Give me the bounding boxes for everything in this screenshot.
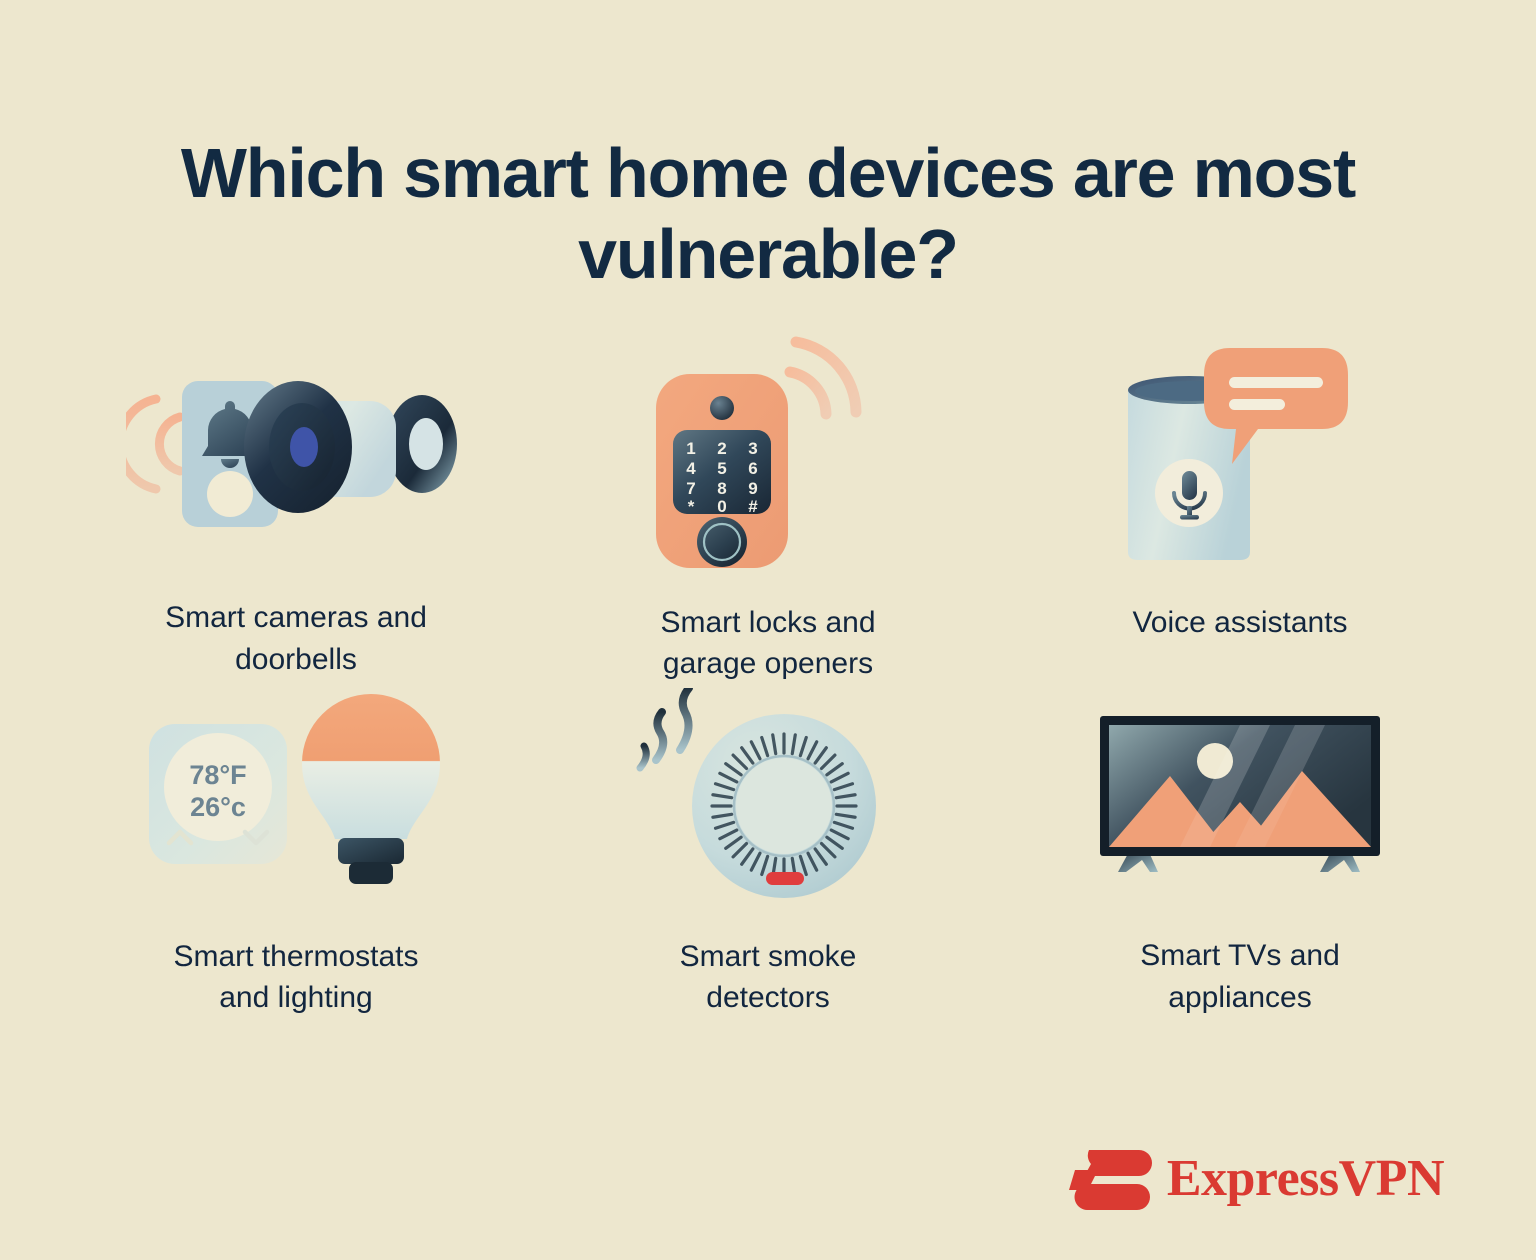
keypad-key[interactable]: 2 <box>717 439 726 458</box>
smart-thermostat-bulb-icon: 78°F 26°c <box>131 688 461 908</box>
status-led-indicator <box>766 872 804 885</box>
smart-smoke-detector-icon <box>618 688 918 908</box>
keypad-key[interactable]: 5 <box>717 459 726 478</box>
page-title: Which smart home devices are most vulner… <box>168 133 1368 295</box>
device-grid: Smart cameras and doorbells <box>60 330 1476 1018</box>
smoke-wisp-icon <box>640 688 689 768</box>
camera-lens-iris <box>290 427 318 467</box>
smart-smoke-detector-illustration <box>532 688 1004 908</box>
device-label: Smart cameras and doorbells <box>165 597 427 680</box>
doorbell-button[interactable] <box>207 471 253 517</box>
keypad-key[interactable]: * <box>688 497 695 516</box>
keypad-key[interactable]: 8 <box>717 479 726 498</box>
keypad-key[interactable]: 7 <box>686 479 695 498</box>
keypad-key[interactable]: # <box>748 497 758 516</box>
smart-thermostat-bulb-illustration: 78°F 26°c <box>60 688 532 908</box>
expressvpn-wordmark: ExpressVPN <box>1167 1153 1444 1205</box>
thermostat-celsius: 26°c <box>190 792 246 822</box>
device-label: Smart thermostats and lighting <box>173 936 418 1019</box>
device-card-cameras-doorbells: Smart cameras and doorbells <box>60 330 532 680</box>
bulb-collar <box>338 838 404 864</box>
device-label: Smart TVs and appliances <box>1140 935 1340 1018</box>
bulb-glass <box>302 694 440 839</box>
sound-wave-icon <box>126 399 180 489</box>
bulb-base <box>349 862 393 884</box>
expressvpn-e-mark-icon <box>1067 1148 1153 1210</box>
infographic-page: Which smart home devices are most vulner… <box>0 0 1536 1260</box>
tv-screen[interactable] <box>1109 725 1371 847</box>
device-card-voice-assistants: Voice assistants <box>1004 330 1476 680</box>
keypad-key[interactable]: 9 <box>748 479 757 498</box>
voice-assistant-speaker-icon <box>1090 330 1390 580</box>
smart-tv-icon <box>1090 698 1390 898</box>
smart-lock-illustration: 1 2 3 4 5 6 7 8 9 * 0 # <box>532 330 1004 580</box>
device-card-locks-garage: 1 2 3 4 5 6 7 8 9 * 0 # <box>532 330 1004 680</box>
voice-assistant-illustration <box>1004 330 1476 580</box>
keypad-key[interactable]: 1 <box>686 439 695 458</box>
smart-camera-doorbell-illustration <box>60 330 532 575</box>
thermostat-fahrenheit: 78°F <box>189 760 246 790</box>
lock-sensor-dot <box>710 396 734 420</box>
device-card-thermostats-lighting: 78°F 26°c Smart thermostats and lighting <box>60 688 532 1018</box>
device-label: Smart smoke detectors <box>680 936 857 1019</box>
device-label: Voice assistants <box>1132 602 1347 643</box>
detector-center <box>736 758 832 854</box>
smart-lock-keypad-icon: 1 2 3 4 5 6 7 8 9 * 0 # <box>618 330 918 580</box>
keypad-key[interactable]: 6 <box>748 459 757 478</box>
expressvpn-logo[interactable]: ExpressVPN <box>1067 1148 1444 1210</box>
smart-tv-illustration <box>1004 688 1476 907</box>
keypad-key[interactable]: 3 <box>748 439 757 458</box>
keypad-key[interactable]: 0 <box>717 497 726 516</box>
device-card-smoke-detectors: Smart smoke detectors <box>532 688 1004 1018</box>
device-label: Smart locks and garage openers <box>660 602 875 685</box>
wifi-signal-icon <box>790 342 856 414</box>
smart-camera-doorbell-icon <box>126 343 466 563</box>
device-card-tvs-appliances: Smart TVs and appliances <box>1004 688 1476 1018</box>
keypad-key[interactable]: 4 <box>686 459 696 478</box>
